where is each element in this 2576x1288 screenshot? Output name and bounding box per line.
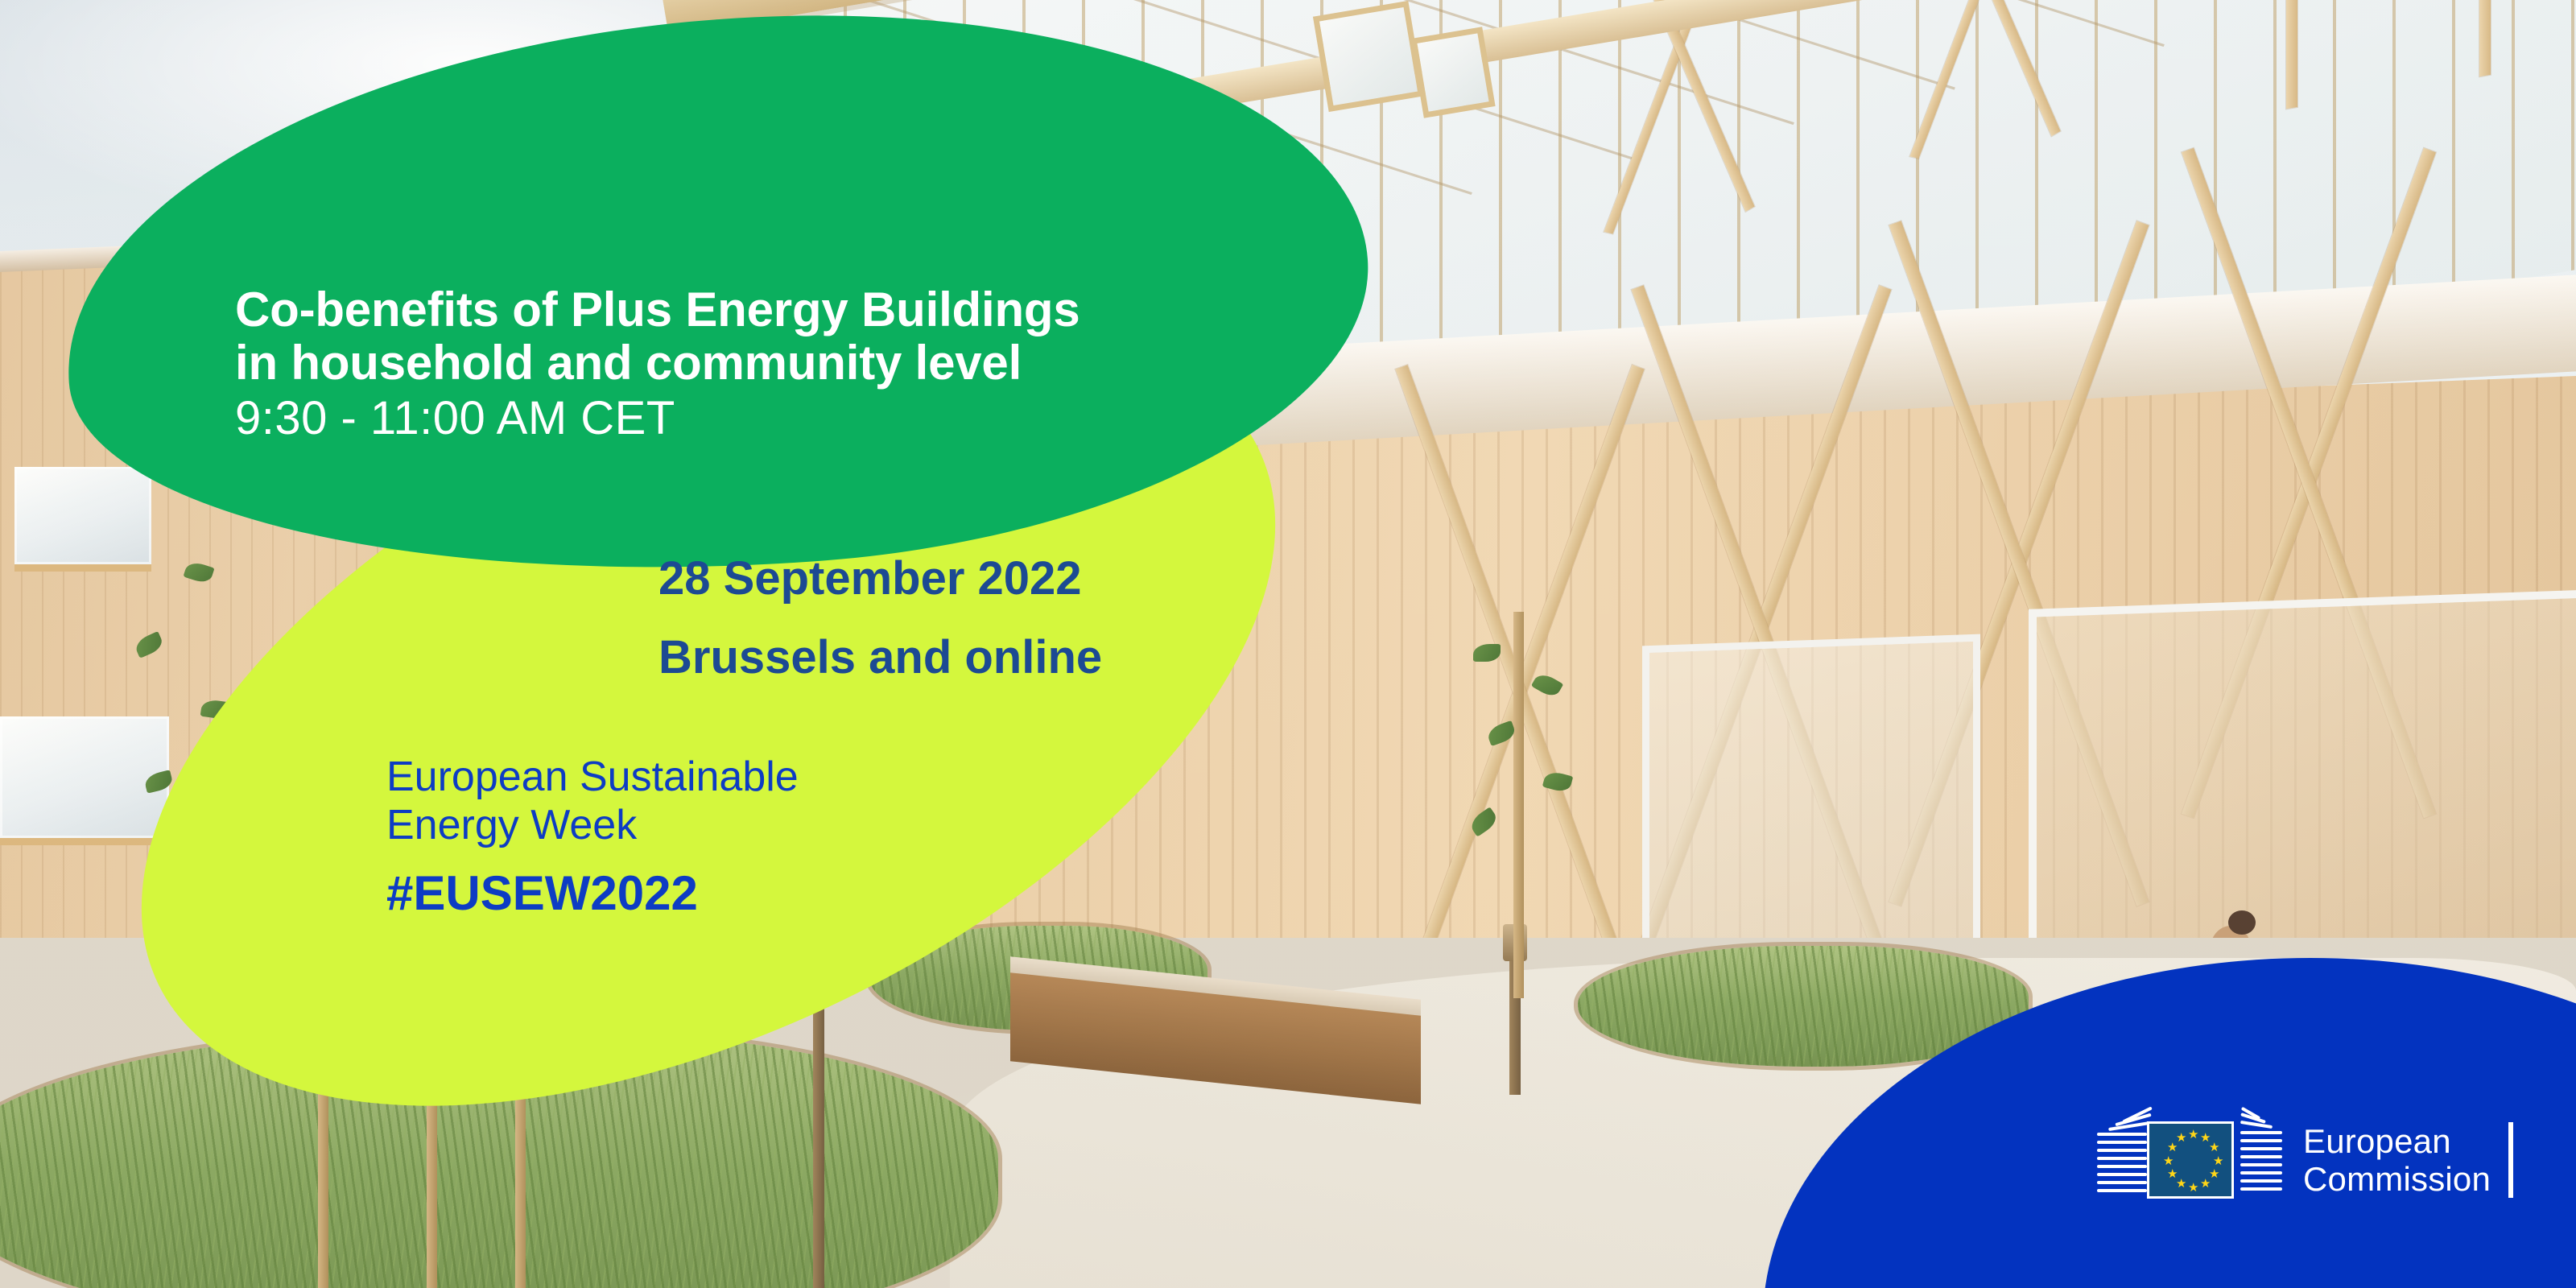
event-date: 28 September 2022 bbox=[658, 555, 1102, 602]
ec-logo-divider bbox=[2508, 1122, 2513, 1198]
european-commission-logo: ★ ★ ★ ★ ★ ★ ★ ★ ★ ★ ★ ★ bbox=[2097, 1115, 2513, 1205]
ec-logo-text: European Commission bbox=[2303, 1122, 2513, 1198]
brand-name-line-1: European Sustainable bbox=[386, 753, 799, 801]
session-title-line-1: Co-benefits of Plus Energy Buildings bbox=[235, 283, 1265, 336]
brand-name-line-2: Energy Week bbox=[386, 801, 799, 849]
event-hashtag: #EUSEW2022 bbox=[386, 869, 799, 918]
event-location: Brussels and online bbox=[658, 634, 1102, 681]
ec-emblem-icon: ★ ★ ★ ★ ★ ★ ★ ★ ★ ★ ★ ★ bbox=[2097, 1115, 2282, 1205]
brand-block: European Sustainable Energy Week #EUSEW2… bbox=[386, 753, 799, 918]
eu-flag-icon: ★ ★ ★ ★ ★ ★ ★ ★ ★ ★ ★ ★ bbox=[2147, 1121, 2234, 1199]
event-details-block: 28 September 2022 Brussels and online bbox=[658, 555, 1102, 681]
session-time: 9:30 - 11:00 AM CET bbox=[235, 391, 1265, 446]
text-layer: Co-benefits of Plus Energy Buildings in … bbox=[0, 0, 2576, 1288]
session-title-block: Co-benefits of Plus Energy Buildings in … bbox=[235, 283, 1265, 446]
event-promo-banner: Co-benefits of Plus Energy Buildings in … bbox=[0, 0, 2576, 1288]
session-title-line-2: in household and community level bbox=[235, 336, 1265, 390]
ec-logo-line-2: Commission bbox=[2303, 1160, 2491, 1198]
ec-logo-line-1: European bbox=[2303, 1122, 2491, 1160]
